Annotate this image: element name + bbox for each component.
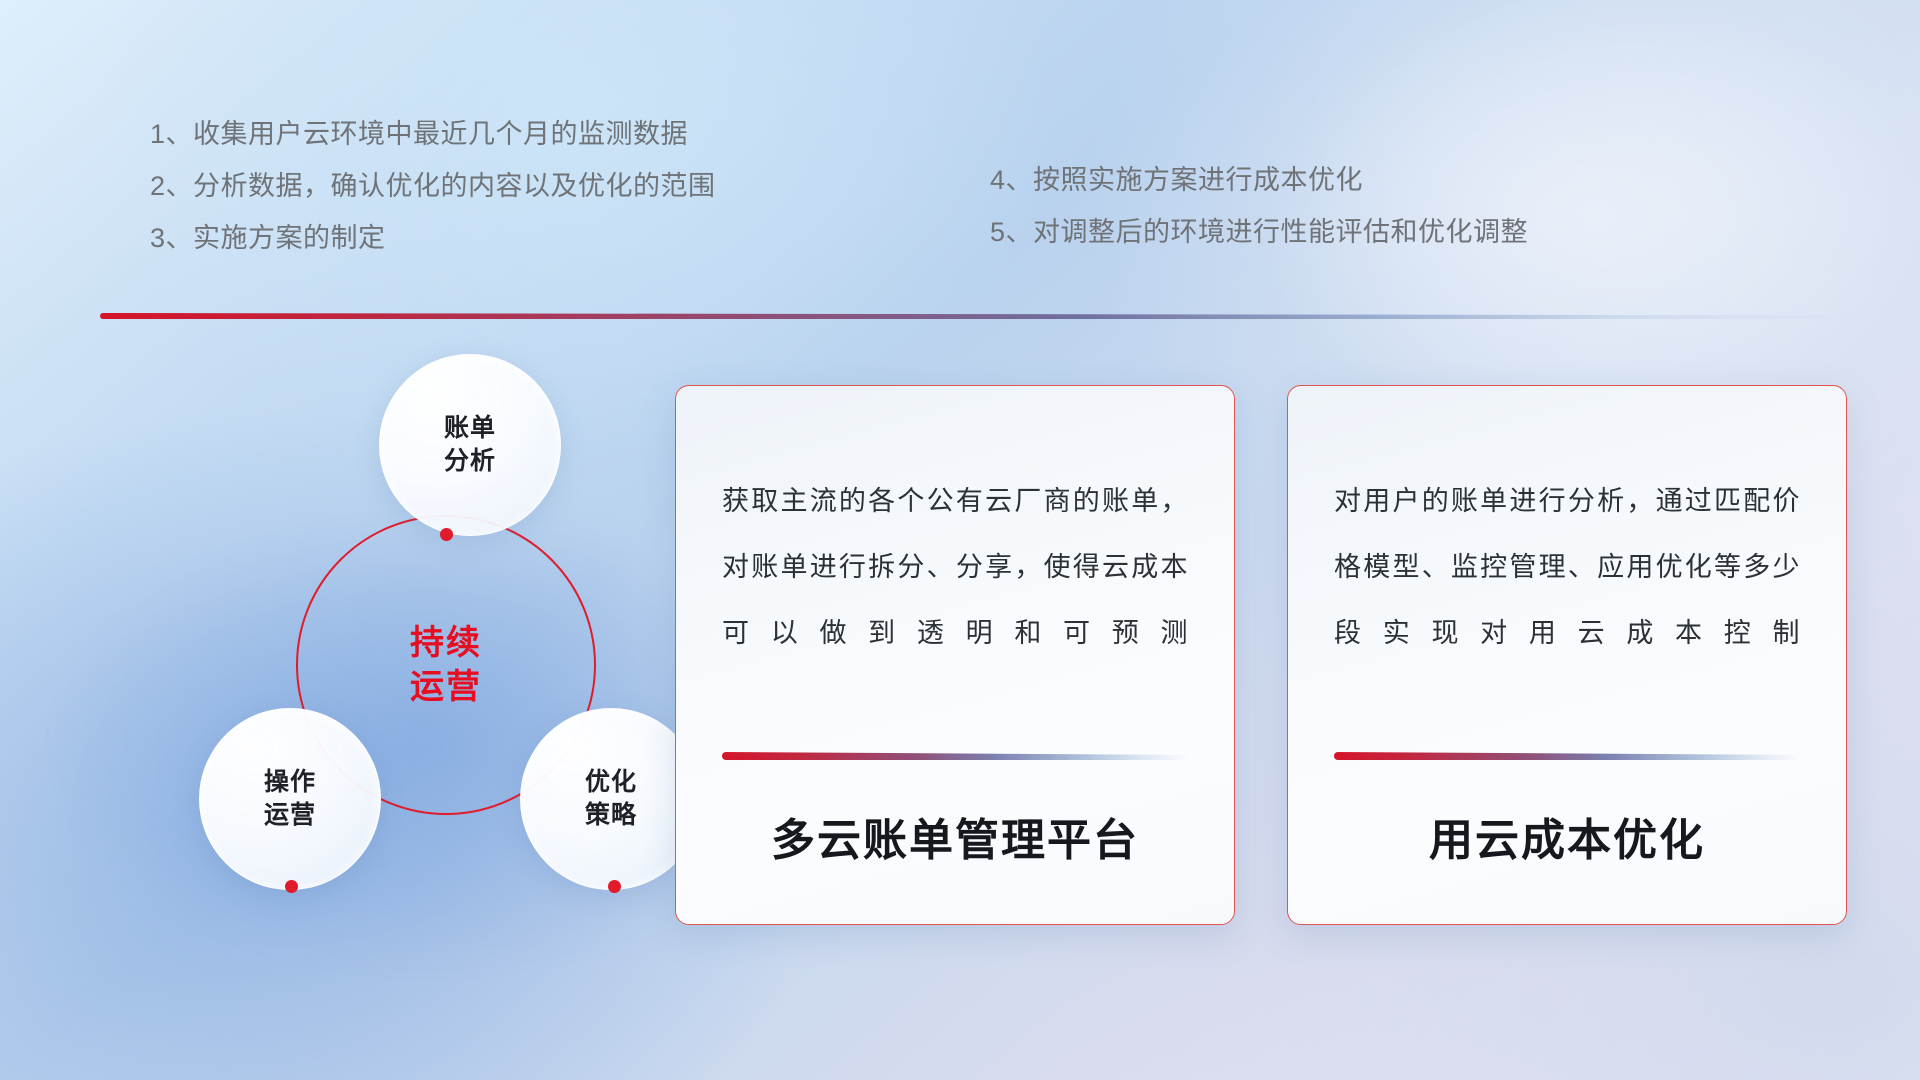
bubble-optimization-strategy-label: 优化 策略 — [585, 766, 637, 832]
bubble-bill-analysis[interactable]: 账单 分析 — [379, 354, 561, 536]
card-multi-cloud-billing[interactable]: 获取主流的各个公有云厂商的账单，对账单进行拆分、分享，使得云成本可以做到透明和可… — [675, 385, 1235, 925]
card-multi-cloud-billing-divider — [722, 752, 1188, 760]
card-multi-cloud-billing-body: 获取主流的各个公有云厂商的账单，对账单进行拆分、分享，使得云成本可以做到透明和可… — [722, 468, 1188, 666]
steps-right-column: 4、按照实施方案进行成本优化 5、对调整后的环境进行性能评估和优化调整 — [990, 154, 1528, 258]
card-cloud-cost-optimization-divider — [1334, 752, 1800, 760]
bubble-bill-analysis-line-1: 账单 — [444, 414, 496, 442]
section-divider-line — [100, 313, 1875, 319]
diagram-node-dot-top — [440, 528, 453, 541]
continuous-operation-diagram: 持续 运营 账单 分析 操作 运营 优化 策略 — [100, 345, 620, 945]
bubble-bill-analysis-line-2: 分析 — [444, 447, 496, 475]
card-cloud-cost-optimization-title: 用云成本优化 — [1334, 760, 1800, 924]
step-item-5: 5、对调整后的环境进行性能评估和优化调整 — [990, 206, 1528, 258]
steps-left-column: 1、收集用户云环境中最近几个月的监测数据 2、分析数据，确认优化的内容以及优化的… — [150, 108, 716, 264]
bubble-optimization-strategy-line-2: 策略 — [585, 801, 637, 829]
step-item-4: 4、按照实施方案进行成本优化 — [990, 154, 1528, 206]
center-label-line-1: 持续 — [410, 621, 482, 665]
bubble-operations-label: 操作 运营 — [264, 766, 316, 832]
card-cloud-cost-optimization-body: 对用户的账单进行分析，通过匹配价格模型、监控管理、应用优化等多少段实现对用云成本… — [1334, 468, 1800, 666]
card-cloud-cost-optimization[interactable]: 对用户的账单进行分析，通过匹配价格模型、监控管理、应用优化等多少段实现对用云成本… — [1287, 385, 1847, 925]
center-label-line-2: 运营 — [410, 665, 482, 709]
bubble-bill-analysis-label: 账单 分析 — [444, 412, 496, 478]
step-item-3: 3、实施方案的制定 — [150, 212, 716, 264]
bubble-operations[interactable]: 操作 运营 — [199, 708, 381, 890]
feature-cards: 获取主流的各个公有云厂商的账单，对账单进行拆分、分享，使得云成本可以做到透明和可… — [675, 385, 1885, 925]
step-item-2: 2、分析数据，确认优化的内容以及优化的范围 — [150, 160, 716, 212]
bubble-operations-line-2: 运营 — [264, 801, 316, 829]
diagram-node-dot-left — [285, 880, 298, 893]
card-multi-cloud-billing-title: 多云账单管理平台 — [722, 760, 1188, 924]
step-item-1: 1、收集用户云环境中最近几个月的监测数据 — [150, 108, 716, 160]
process-steps: 1、收集用户云环境中最近几个月的监测数据 2、分析数据，确认优化的内容以及优化的… — [0, 108, 1920, 278]
bubble-optimization-strategy-line-1: 优化 — [585, 768, 637, 796]
slide-content: 1、收集用户云环境中最近几个月的监测数据 2、分析数据，确认优化的内容以及优化的… — [0, 0, 1920, 1080]
diagram-node-dot-right — [608, 880, 621, 893]
bubble-operations-line-1: 操作 — [264, 768, 316, 796]
